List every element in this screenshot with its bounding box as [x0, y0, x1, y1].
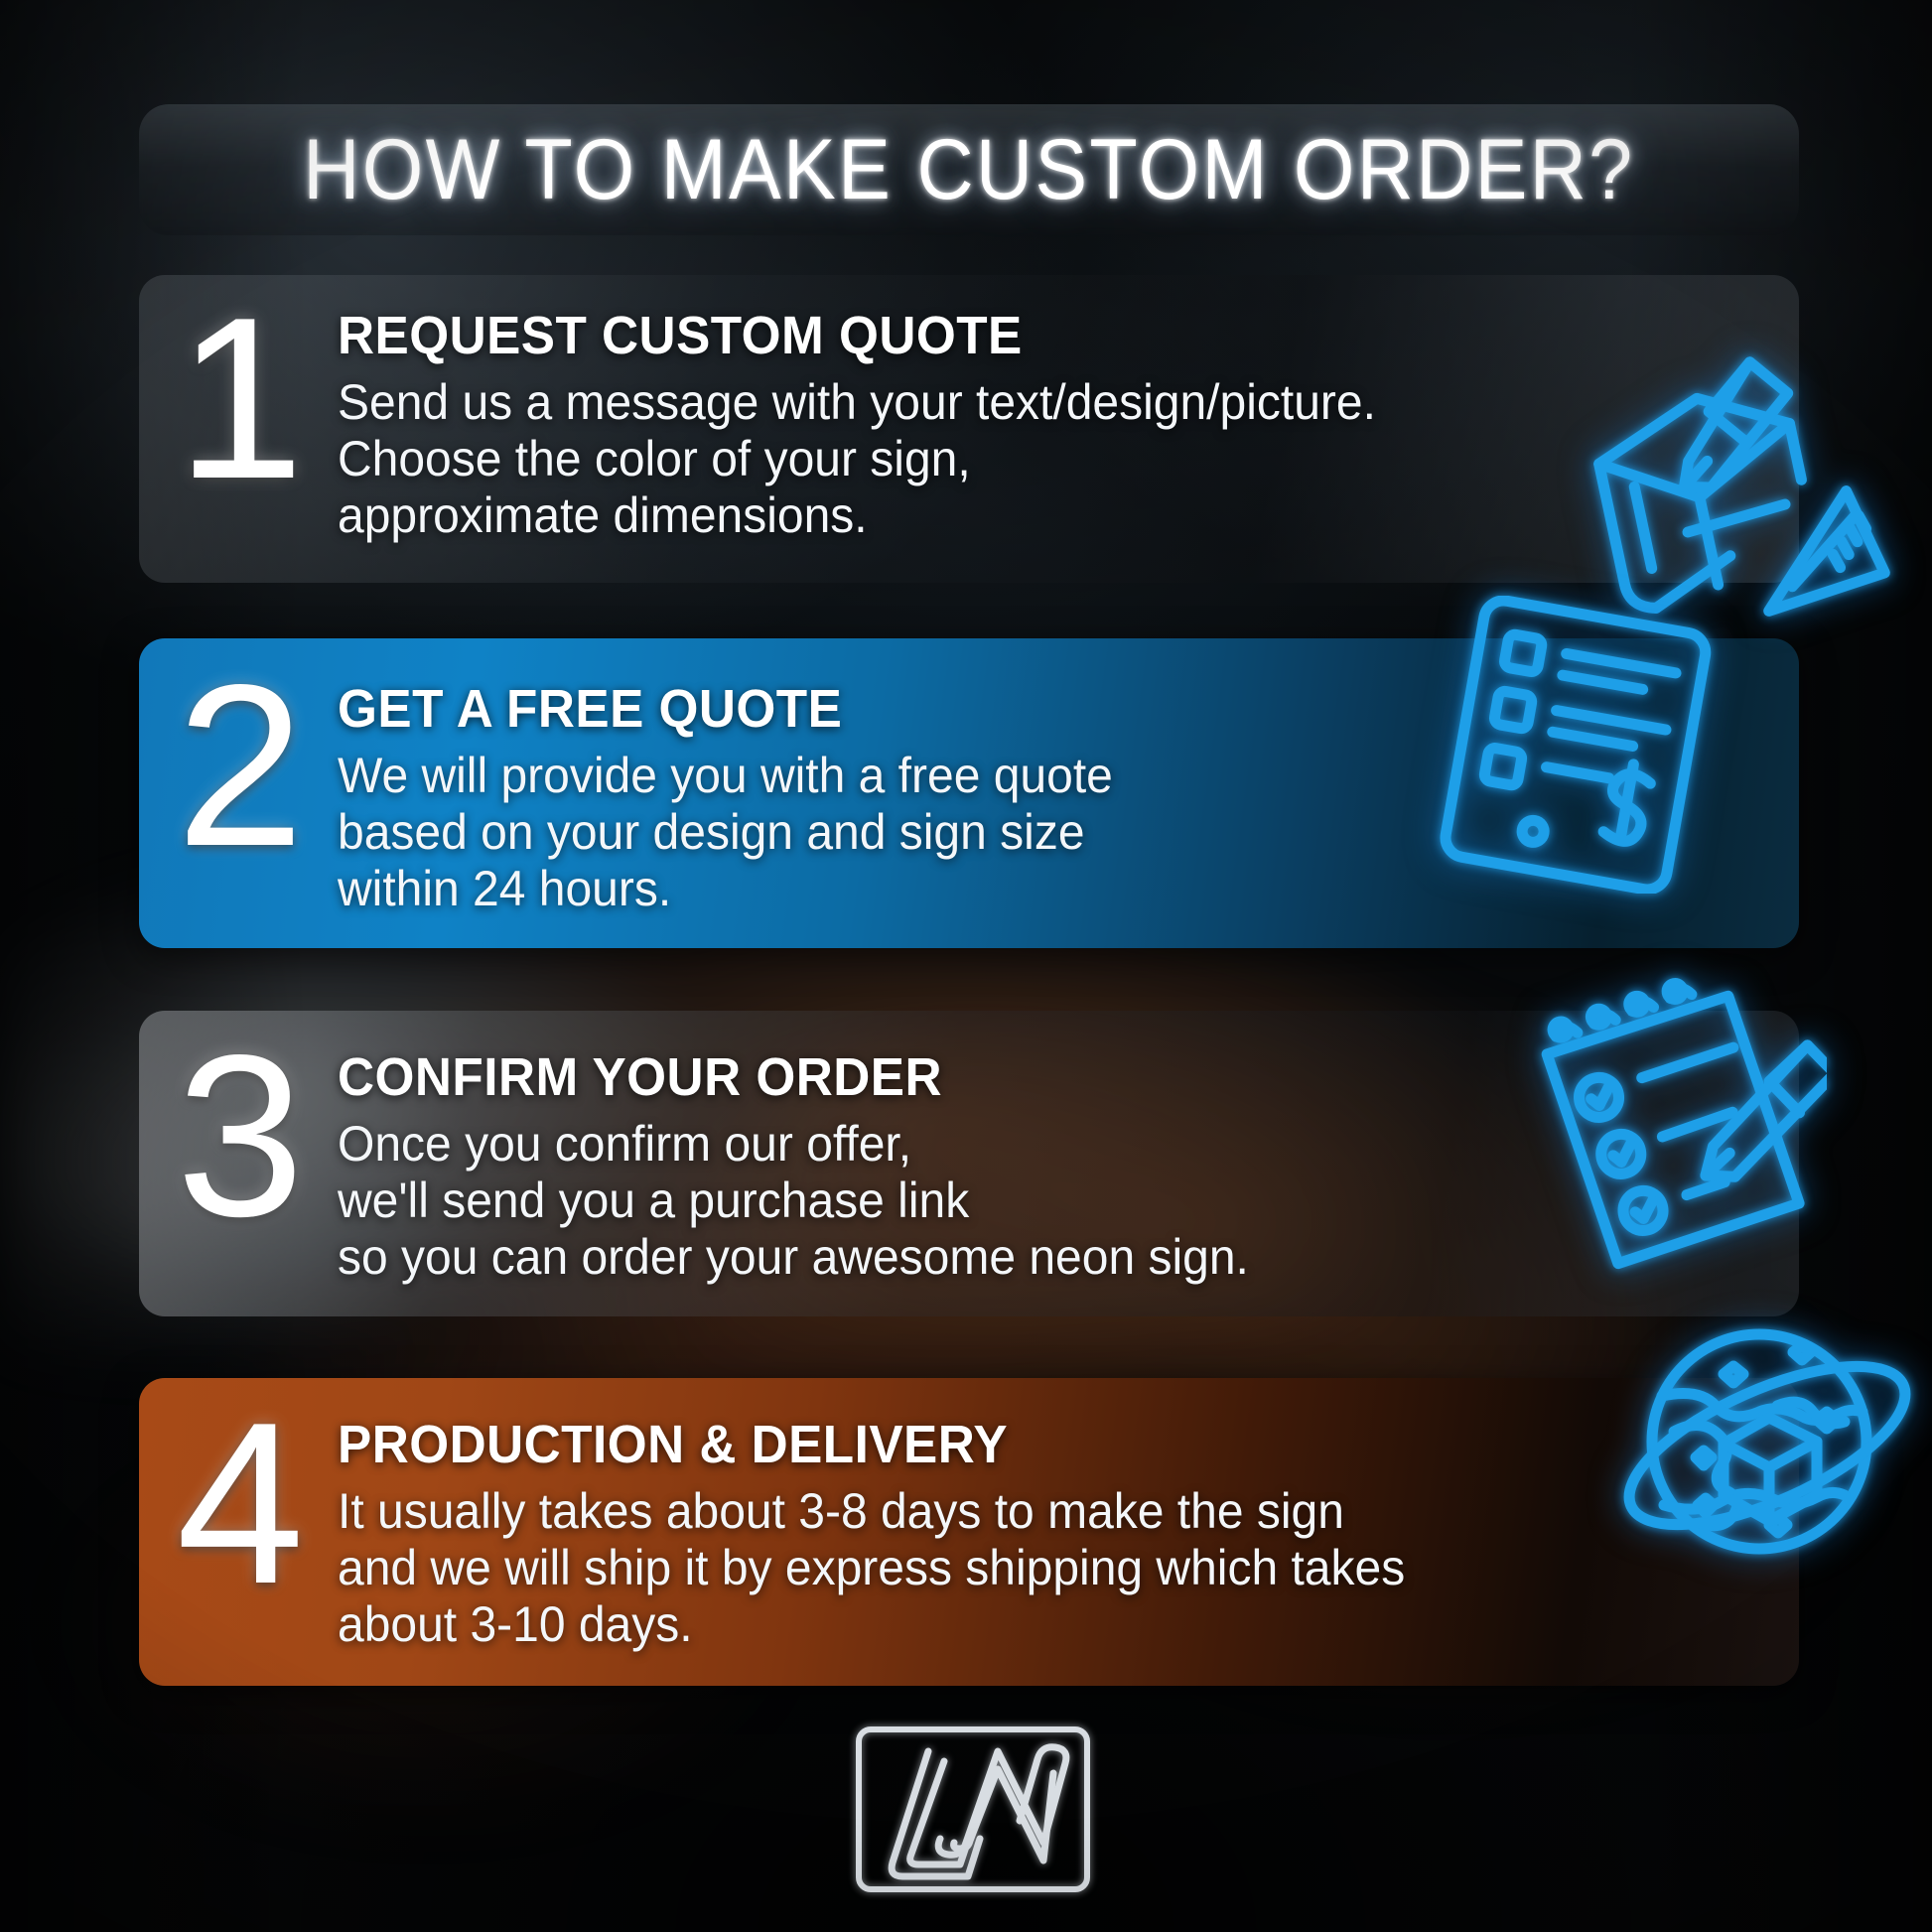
step-heading-2: GET A FREE QUOTE	[338, 678, 1105, 740]
step-line: We will provide you with a free quote	[338, 748, 1113, 804]
step-heading-1: REQUEST CUSTOM QUOTE	[338, 305, 1365, 366]
step-card-1: 1 REQUEST CUSTOM QUOTE Send us a message…	[139, 275, 1799, 583]
step-line: within 24 hours.	[338, 861, 1113, 917]
step-line: approximate dimensions.	[338, 487, 1376, 544]
step-card-3: 3 CONFIRM YOUR ORDER Once you confirm ou…	[139, 1011, 1799, 1316]
step-line: so you can order your awesome neon sign.	[338, 1229, 1249, 1286]
step-body-2: GET A FREE QUOTE We will provide you wit…	[338, 638, 1174, 917]
step-heading-3: CONFIRM YOUR ORDER	[338, 1046, 1239, 1108]
content-root: HOW TO MAKE CUSTOM ORDER? 1 REQUEST CUST…	[0, 0, 1932, 1932]
step-body-1: REQUEST CUSTOM QUOTE Send us a message w…	[338, 275, 1449, 544]
step-number-4: 4	[139, 1378, 338, 1615]
ln-neon-monogram-logo	[849, 1718, 1097, 1901]
step-body-3: CONFIRM YOUR ORDER Once you confirm our …	[338, 1011, 1316, 1286]
step-line: Once you confirm our offer,	[338, 1116, 1249, 1173]
infographic-canvas: HOW TO MAKE CUSTOM ORDER? 1 REQUEST CUST…	[0, 0, 1932, 1932]
step-lines-2: We will provide you with a free quote ba…	[338, 748, 1113, 917]
step-line: about 3-10 days.	[338, 1596, 1405, 1653]
step-card-2: 2 GET A FREE QUOTE We will provide you w…	[139, 638, 1799, 948]
step-number-2: 2	[139, 638, 338, 878]
step-body-4: PRODUCTION & DELIVERY It usually takes a…	[338, 1378, 1479, 1653]
step-line: Send us a message with your text/design/…	[338, 374, 1376, 431]
step-lines-3: Once you confirm our offer, we'll send y…	[338, 1116, 1249, 1286]
step-number-3: 3	[139, 1011, 338, 1248]
step-line: we'll send you a purchase link	[338, 1173, 1249, 1229]
step-line: and we will ship it by express shipping …	[338, 1540, 1405, 1596]
step-line: based on your design and sign size	[338, 804, 1113, 861]
page-title: HOW TO MAKE CUSTOM ORDER?	[303, 121, 1634, 219]
step-lines-1: Send us a message with your text/design/…	[338, 374, 1376, 544]
step-heading-4: PRODUCTION & DELIVERY	[338, 1414, 1394, 1475]
step-number-1: 1	[139, 275, 338, 510]
step-card-4: 4 PRODUCTION & DELIVERY It usually takes…	[139, 1378, 1799, 1686]
step-lines-4: It usually takes about 3-8 days to make …	[338, 1483, 1405, 1653]
title-bar: HOW TO MAKE CUSTOM ORDER?	[139, 104, 1799, 235]
step-line: It usually takes about 3-8 days to make …	[338, 1483, 1405, 1540]
step-line: Choose the color of your sign,	[338, 431, 1376, 487]
